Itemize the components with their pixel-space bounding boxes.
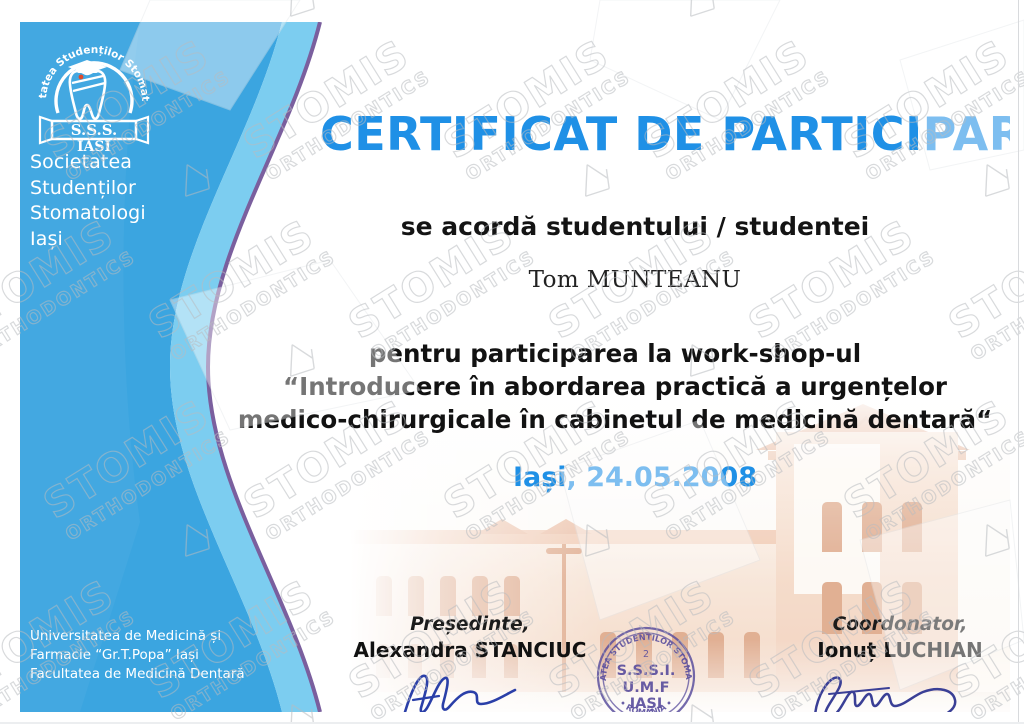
certificate-title: CERTIFICAT DE PARTICIPARE: [320, 107, 970, 161]
watermark-mark: STOMISORTHODONTICS: [141, 0, 340, 6]
watermark-mark: STOMISORTHODONTICS: [541, 0, 740, 6]
footer-line-1: Universitatea de Medicină și: [30, 627, 290, 646]
event-date: Iași, 24.05.2008: [310, 462, 960, 493]
president-role-label: Președinte,: [350, 614, 590, 635]
sss-emblem-logo-icon: S.S.S. IAȘI Societatea Studenților Stoma…: [28, 27, 160, 152]
award-line: se acordă studentului / studentei: [310, 212, 960, 241]
institution-footer: Universitatea de Medicină și Farmacie “G…: [30, 627, 290, 684]
workshop-intro: pentru participarea la work-shop-ul: [235, 337, 995, 370]
stamp-line-3: IAȘI: [630, 696, 662, 712]
org-name-line-2: Studenților: [30, 176, 210, 202]
president-handwritten-signature: [395, 662, 545, 712]
workshop-title-line-2: medico-chirurgicale în cabinetul de medi…: [235, 403, 995, 436]
org-name-line-4: Iași: [30, 227, 210, 253]
stamp-line-2: U.M.F: [622, 680, 669, 696]
certificate-card: S.S.S. IAȘI Societatea Studenților Stoma…: [20, 22, 1010, 712]
watermark-line-2: ORTHODONTICS: [767, 0, 940, 5]
organization-name: Societatea Studenților Stomatologi Iași: [30, 150, 210, 252]
coordinator-handwritten-signature: [805, 662, 995, 712]
emblem-banner-text: S.S.S.: [71, 121, 118, 139]
signature-block-president: Președinte, Alexandra STANCIUC: [350, 614, 590, 662]
watermark-line-2: ORTHODONTICS: [567, 0, 740, 5]
recipient-name: Tom MUNTEANU: [310, 267, 960, 293]
stamp-line-1: S.S.S.I.: [617, 663, 676, 679]
scan-edge-right: [1018, 0, 1019, 724]
watermark-line-2: ORTHODONTICS: [367, 0, 540, 5]
official-round-stamp: SOCIETATEA STUDENTILOR STOMATOLOGI • ROM…: [592, 622, 700, 712]
watermark-line-2: ORTHODONTICS: [167, 0, 340, 5]
coordinator-role-label: Coordonator,: [780, 614, 1010, 635]
stamp-number: 2: [643, 649, 649, 660]
watermark-glyph: [277, 0, 321, 21]
org-name-line-3: Stomatologi: [30, 201, 210, 227]
watermark-line-2: ORTHODONTICS: [967, 0, 1024, 5]
signature-block-coordinator: Coordonator, Ionuț LUCHIAN: [780, 614, 1010, 662]
footer-line-3: Facultatea de Medicină Dentară: [30, 665, 290, 684]
watermark-line-2: ORTHODONTICS: [0, 0, 140, 5]
watermark-glyph: [677, 0, 721, 21]
certificate-page: S.S.S. IAȘI Societatea Studenților Stoma…: [0, 0, 1024, 724]
president-name: Alexandra STANCIUC: [350, 638, 590, 662]
footer-line-2: Farmacie “Gr.T.Popa” Iași: [30, 646, 290, 665]
workshop-description: pentru participarea la work-shop-ul “Int…: [235, 337, 995, 436]
watermark-mark: STOMISORTHODONTICS: [941, 0, 1024, 6]
coordinator-name: Ionuț LUCHIAN: [780, 638, 1010, 662]
workshop-title-line-1: “Introducere în abordarea practică a urg…: [235, 370, 995, 403]
org-name-line-1: Societatea: [30, 150, 210, 176]
